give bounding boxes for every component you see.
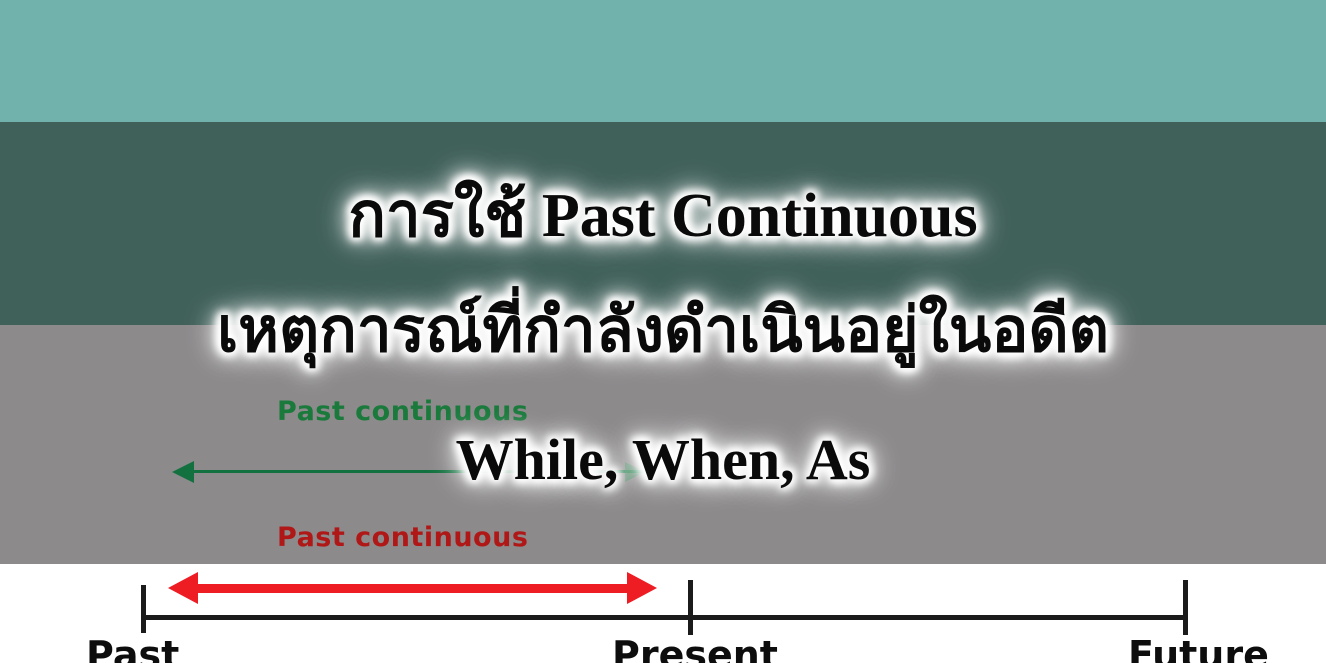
headline-title-line-1: การใช้ Past Continuous — [0, 182, 1326, 251]
timeline-caption-present: Present — [612, 636, 778, 663]
timeline-caption-past: Past — [86, 636, 179, 663]
past-continuous-label-red: Past continuous — [277, 522, 528, 553]
headline-keywords-line: While, When, As — [0, 428, 1326, 492]
past-continuous-label-green: Past continuous — [277, 396, 528, 427]
timeline-axis — [141, 615, 1187, 620]
red-arrow-line — [192, 584, 636, 593]
red-arrow-left-head-icon — [168, 572, 198, 604]
headline-title-line-2: เหตุการณ์ที่กำลังดำเนินอยู่ในอดีต — [0, 297, 1326, 366]
red-arrow-right-head-icon — [627, 572, 657, 604]
timeline-tick-past — [141, 585, 146, 633]
timeline-caption-future: Future — [1128, 636, 1269, 663]
timeline-tick-present — [688, 580, 693, 635]
slide-canvas: Past continuous Past continuous Past Pre… — [0, 0, 1326, 663]
timeline-tick-future — [1183, 580, 1188, 635]
